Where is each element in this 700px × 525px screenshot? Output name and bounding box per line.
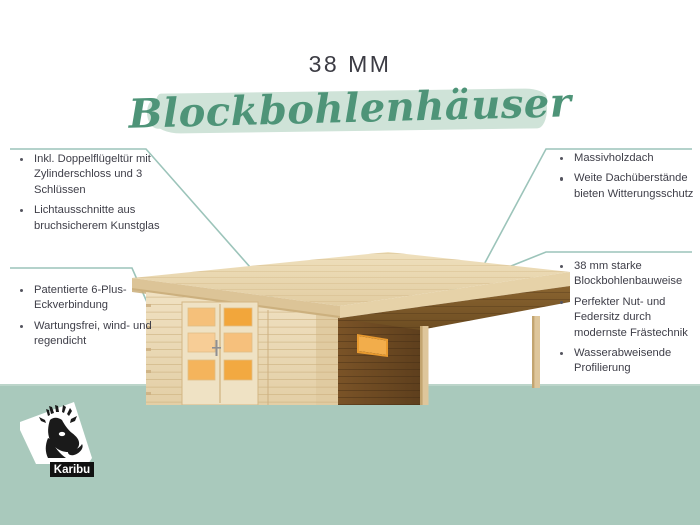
callout-block-corner: Patentierte 6-Plus-Eckverbindung Wartung… <box>16 283 184 355</box>
ground-band <box>0 386 700 525</box>
callout-block-roof: Massivholzdach Weite Dachüberstände biet… <box>556 151 700 207</box>
karibu-logo: Karibu <box>18 400 96 480</box>
list-item: Inkl. Doppelflügeltür mit Zylinderschlos… <box>16 152 184 198</box>
list-item: Wasserabweisende Profilierung <box>556 346 700 377</box>
page-title: Blockbohlenhäuser <box>0 76 700 142</box>
infographic-page: 38 MM Blockbohlenhäuser <box>0 0 700 525</box>
callout-block-door: Inkl. Doppelflügeltür mit Zylinderschlos… <box>16 152 184 239</box>
cabin-illustration <box>120 230 570 405</box>
title-block: Blockbohlenhäuser <box>0 85 700 139</box>
list-item: 38 mm starke Blockbohlenbauweise <box>556 259 700 290</box>
list-item: Wartungsfrei, wind- und regendicht <box>16 319 184 350</box>
list-item: Massivholzdach <box>556 151 700 166</box>
list-item: Lichtausschnitte aus bruchsicherem Kunst… <box>16 203 184 234</box>
logo-wordmark: Karibu <box>54 464 90 476</box>
list-item: Weite Dachüberstände bieten Witterungssc… <box>556 171 700 202</box>
callout-block-wall: 38 mm starke Blockbohlenbauweise Perfekt… <box>556 259 700 382</box>
list-item: Patentierte 6-Plus-Eckverbindung <box>16 283 184 314</box>
list-item: Perfekter Nut- und Federsitz durch moder… <box>556 295 700 341</box>
thickness-label: 38 MM <box>0 51 700 78</box>
